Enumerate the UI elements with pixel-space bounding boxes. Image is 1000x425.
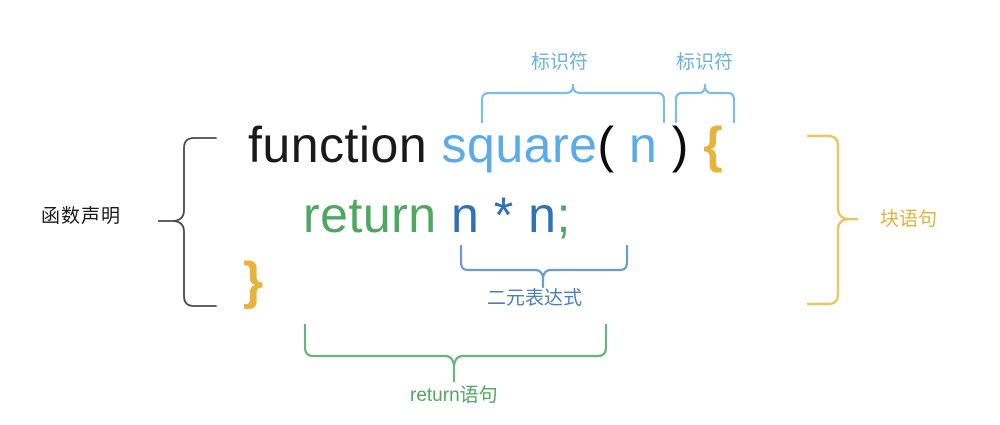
- token-parameter-n: n: [629, 117, 657, 173]
- token-space: [437, 187, 451, 243]
- label-return-statement: return语句: [410, 386, 498, 405]
- token-space: [689, 117, 703, 173]
- brace-return-statement-icon: [303, 323, 608, 383]
- brace-function-declaration-icon: [158, 136, 218, 308]
- token-operand-right-n: n: [528, 187, 556, 243]
- token-identifier-square: square: [442, 117, 598, 173]
- token-space: [427, 117, 441, 173]
- code-line-function-signature: function square( n ) {: [248, 120, 723, 170]
- brace-block-statement-icon: [806, 134, 858, 306]
- diagram-canvas: function square( n ) { return n * n; } 标…: [0, 0, 1000, 425]
- code-line-closing-brace: }: [243, 255, 264, 307]
- token-paren-close: ): [672, 117, 689, 173]
- token-space: [657, 117, 671, 173]
- token-keyword-function: function: [248, 117, 427, 173]
- token-space: [615, 117, 629, 173]
- token-operand-left-n: n: [451, 187, 479, 243]
- label-binary-expression: 二元表达式: [487, 289, 582, 308]
- code-line-return-statement: return n * n;: [303, 190, 571, 240]
- token-brace-close: }: [243, 252, 264, 310]
- token-brace-open: {: [703, 117, 723, 173]
- token-space: [479, 187, 493, 243]
- brace-binary-expression-icon: [459, 244, 629, 288]
- label-function-declaration: 函数声明: [41, 207, 121, 226]
- token-operator-multiply: *: [494, 187, 514, 243]
- token-space: [514, 187, 528, 243]
- label-block-statement: 块语句: [880, 210, 937, 229]
- token-keyword-return: return: [303, 187, 437, 243]
- token-semicolon: ;: [556, 187, 570, 243]
- label-identifier-parameter: 标识符: [676, 53, 733, 72]
- token-paren-open: (: [597, 117, 614, 173]
- label-identifier-name: 标识符: [531, 53, 588, 72]
